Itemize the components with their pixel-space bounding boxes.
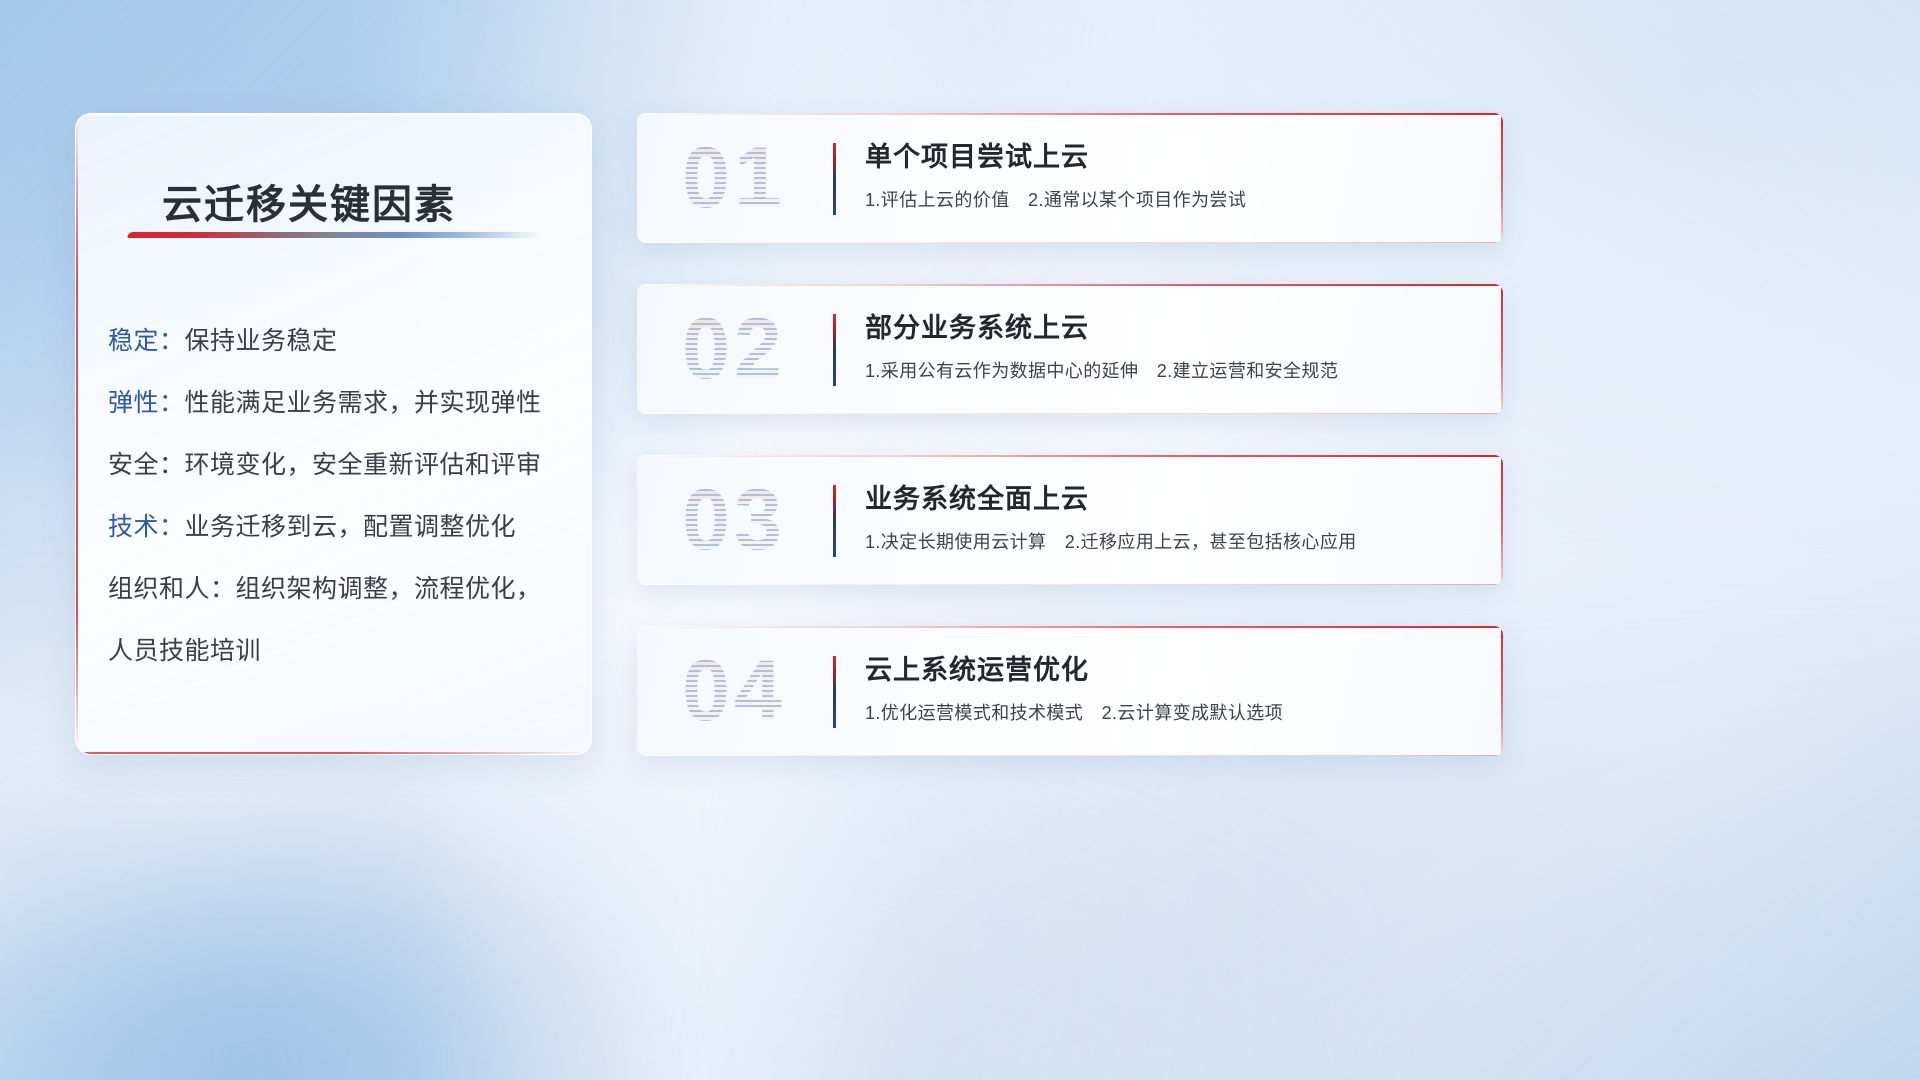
- card-right-accent-line: [1501, 284, 1503, 414]
- step-subtitle: 1.评估上云的价值 2.通常以某个项目作为尝试: [865, 186, 1246, 212]
- list-item-text: 组织架构调整，流程优化，: [236, 575, 542, 603]
- list-item: 弹性：性能满足业务需求，并实现弹性: [108, 372, 567, 434]
- list-item-label: 技术：: [108, 513, 185, 541]
- step-card-02[interactable]: 02 部分业务系统上云 1.采用公有云作为数据中心的延伸 2.建立运营和安全规范: [637, 284, 1503, 414]
- step-title: 单个项目尝试上云: [865, 135, 1089, 174]
- list-item-text: 性能满足业务需求，并实现弹性: [185, 389, 542, 417]
- list-item-label: 安全：: [108, 451, 185, 479]
- list-item-text: 人员技能培训: [108, 637, 261, 665]
- slide-stage: 云迁移关键因素 稳定：保持业务稳定 弹性：性能满足业务需求，并实现弹性 安全：环…: [0, 0, 1920, 1080]
- step-subtitle: 1.采用公有云作为数据中心的延伸 2.建立运营和安全规范: [865, 357, 1338, 383]
- step-divider-bar: [833, 656, 836, 728]
- step-subtitle: 1.优化运营模式和技术模式 2.云计算变成默认选项: [865, 699, 1283, 725]
- card-top-accent-line: [637, 455, 1503, 457]
- list-item: 安全：环境变化，安全重新评估和评审: [108, 434, 567, 496]
- card-top-accent-line: [637, 626, 1503, 628]
- step-title: 业务系统全面上云: [865, 477, 1089, 516]
- step-number-watermark: 04: [659, 640, 809, 742]
- card-right-accent-line: [1501, 626, 1503, 756]
- step-subtitle: 1.决定长期使用云计算 2.迁移应用上云，甚至包括核心应用: [865, 528, 1357, 554]
- card-bottom-sheen: [637, 242, 1503, 243]
- list-item-continuation: 人员技能培训: [108, 620, 567, 682]
- step-divider-bar: [833, 314, 836, 386]
- card-right-accent-line: [1501, 455, 1503, 585]
- step-card-04[interactable]: 04 云上系统运营优化 1.优化运营模式和技术模式 2.云计算变成默认选项: [637, 626, 1503, 756]
- list-item-text: 保持业务稳定: [185, 327, 338, 355]
- card-bottom-sheen: [637, 413, 1503, 414]
- list-item-label: 稳定：: [108, 327, 185, 355]
- step-card-01[interactable]: 01 单个项目尝试上云 1.评估上云的价值 2.通常以某个项目作为尝试: [637, 113, 1503, 243]
- list-item: 稳定：保持业务稳定: [108, 310, 567, 372]
- list-item-text: 环境变化，安全重新评估和评审: [185, 451, 542, 479]
- list-item-label: 组织和人：: [108, 575, 236, 603]
- step-number-watermark: 02: [659, 298, 809, 400]
- title-underline-gradient: [126, 232, 542, 238]
- step-title: 云上系统运营优化: [865, 648, 1089, 687]
- panel-bottom-accent-bar: [76, 752, 591, 754]
- step-title: 部分业务系统上云: [865, 306, 1089, 345]
- step-divider-bar: [833, 143, 836, 215]
- key-factors-panel: 云迁移关键因素 稳定：保持业务稳定 弹性：性能满足业务需求，并实现弹性 安全：环…: [75, 113, 592, 755]
- list-item-text: 业务迁移到云，配置调整优化: [185, 513, 517, 541]
- list-item: 组织和人：组织架构调整，流程优化，: [108, 558, 567, 620]
- key-factors-list: 稳定：保持业务稳定 弹性：性能满足业务需求，并实现弹性 安全：环境变化，安全重新…: [108, 310, 567, 682]
- page-title: 云迁移关键因素: [162, 172, 456, 230]
- card-right-accent-line: [1501, 113, 1503, 243]
- card-bottom-sheen: [637, 755, 1503, 756]
- step-card-03[interactable]: 03 业务系统全面上云 1.决定长期使用云计算 2.迁移应用上云，甚至包括核心应…: [637, 455, 1503, 585]
- list-item-label: 弹性：: [108, 389, 185, 417]
- panel-left-accent-bar: [76, 114, 78, 754]
- card-bottom-sheen: [637, 584, 1503, 585]
- card-top-accent-line: [637, 284, 1503, 286]
- step-number-watermark: 01: [659, 127, 809, 229]
- list-item: 技术：业务迁移到云，配置调整优化: [108, 496, 567, 558]
- card-top-accent-line: [637, 113, 1503, 115]
- step-divider-bar: [833, 485, 836, 557]
- step-number-watermark: 03: [659, 469, 809, 571]
- panel-top-highlight: [76, 114, 591, 116]
